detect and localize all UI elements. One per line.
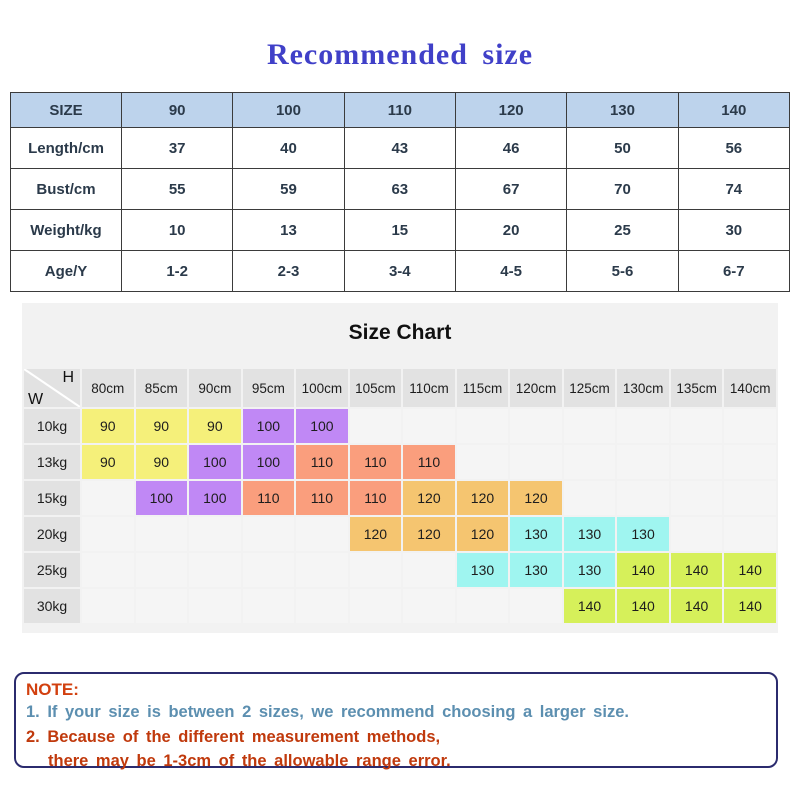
cell-bust-100: 59 (233, 169, 344, 210)
note-line-3-text: there may be 1-3cm of the allowable rang… (48, 752, 451, 770)
row-label-length: Length/cm (11, 128, 122, 169)
size-table-header-90: 90 (122, 93, 233, 128)
size-chart-row: 13kg9090100100110110110 (24, 445, 776, 479)
size-chart-title: Size Chart (22, 321, 778, 345)
empty-cell (457, 409, 509, 443)
cell-bust-120: 67 (455, 169, 566, 210)
row-header-13kg: 13kg (24, 445, 80, 479)
empty-cell (82, 553, 134, 587)
size-cell-10kg-100cm: 100 (296, 409, 348, 443)
size-cell-10kg-95cm: 100 (243, 409, 295, 443)
cell-weight-140: 30 (678, 210, 789, 251)
size-cell-20kg-115cm: 120 (457, 517, 509, 551)
cell-bust-130: 70 (567, 169, 678, 210)
empty-cell (136, 553, 188, 587)
empty-cell (403, 589, 455, 623)
cell-age-130: 5-6 (567, 251, 678, 292)
size-cell-13kg-105cm: 110 (350, 445, 402, 479)
cell-age-90: 1-2 (122, 251, 233, 292)
empty-cell (189, 589, 241, 623)
column-header-125cm: 125cm (564, 369, 616, 407)
table-row: Bust/cm 55 59 63 67 70 74 (11, 169, 790, 210)
size-cell-15kg-85cm: 100 (136, 481, 188, 515)
empty-cell (82, 589, 134, 623)
empty-cell (510, 445, 562, 479)
note-heading: NOTE: (26, 680, 766, 700)
cell-age-140: 6-7 (678, 251, 789, 292)
column-header-105cm: 105cm (350, 369, 402, 407)
size-cell-30kg-135cm: 140 (671, 589, 723, 623)
empty-cell (510, 589, 562, 623)
size-chart-grid: HW80cm85cm90cm95cm100cm105cm110cm115cm12… (22, 367, 778, 625)
size-table-header-row: SIZE 90 100 110 120 130 140 (11, 93, 790, 128)
size-cell-20kg-120cm: 130 (510, 517, 562, 551)
column-header-110cm: 110cm (403, 369, 455, 407)
cell-weight-110: 15 (344, 210, 455, 251)
size-table-header-130: 130 (567, 93, 678, 128)
size-cell-13kg-90cm: 100 (189, 445, 241, 479)
size-cell-10kg-80cm: 90 (82, 409, 134, 443)
table-row: Age/Y 1-2 2-3 3-4 4-5 5-6 6-7 (11, 251, 790, 292)
empty-cell (617, 481, 669, 515)
cell-length-120: 46 (455, 128, 566, 169)
size-cell-13kg-80cm: 90 (82, 445, 134, 479)
corner-height-label: H (62, 369, 74, 387)
size-table-header-140: 140 (678, 93, 789, 128)
empty-cell (457, 445, 509, 479)
size-cell-15kg-100cm: 110 (296, 481, 348, 515)
cell-weight-130: 25 (567, 210, 678, 251)
empty-cell (671, 409, 723, 443)
column-header-115cm: 115cm (457, 369, 509, 407)
column-header-80cm: 80cm (82, 369, 134, 407)
size-cell-15kg-105cm: 110 (350, 481, 402, 515)
size-cell-25kg-135cm: 140 (671, 553, 723, 587)
table-row: Length/cm 37 40 43 46 50 56 (11, 128, 790, 169)
cell-length-90: 37 (122, 128, 233, 169)
empty-cell (671, 481, 723, 515)
size-chart-row: 20kg120120120130130130 (24, 517, 776, 551)
recommended-size-table: SIZE 90 100 110 120 130 140 Length/cm 37… (10, 92, 790, 292)
cell-bust-90: 55 (122, 169, 233, 210)
empty-cell (82, 481, 134, 515)
size-table-header-100: 100 (233, 93, 344, 128)
column-header-90cm: 90cm (189, 369, 241, 407)
empty-cell (671, 445, 723, 479)
size-cell-20kg-125cm: 130 (564, 517, 616, 551)
size-cell-13kg-110cm: 110 (403, 445, 455, 479)
page-title: Recommended size (0, 38, 800, 72)
note-line-3: there may be 1-3cm of the allowable rang… (26, 749, 766, 773)
size-chart-panel: Size Chart HW80cm85cm90cm95cm100cm105cm1… (22, 303, 778, 633)
empty-cell (243, 517, 295, 551)
cell-length-130: 50 (567, 128, 678, 169)
size-cell-15kg-120cm: 120 (510, 481, 562, 515)
size-cell-15kg-95cm: 110 (243, 481, 295, 515)
size-cell-20kg-105cm: 120 (350, 517, 402, 551)
note-line-2: 2. Because of the different measurement … (26, 725, 766, 749)
size-cell-25kg-115cm: 130 (457, 553, 509, 587)
empty-cell (724, 517, 776, 551)
column-header-85cm: 85cm (136, 369, 188, 407)
empty-cell (510, 409, 562, 443)
row-header-15kg: 15kg (24, 481, 80, 515)
size-cell-13kg-100cm: 110 (296, 445, 348, 479)
empty-cell (136, 517, 188, 551)
cell-bust-110: 63 (344, 169, 455, 210)
size-cell-15kg-110cm: 120 (403, 481, 455, 515)
empty-cell (564, 445, 616, 479)
empty-cell (350, 553, 402, 587)
empty-cell (724, 445, 776, 479)
row-label-bust: Bust/cm (11, 169, 122, 210)
empty-cell (564, 409, 616, 443)
size-cell-13kg-85cm: 90 (136, 445, 188, 479)
empty-cell (296, 553, 348, 587)
empty-cell (136, 589, 188, 623)
size-table-header-size: SIZE (11, 93, 122, 128)
corner-inner: HW (24, 369, 80, 407)
row-header-25kg: 25kg (24, 553, 80, 587)
size-cell-15kg-90cm: 100 (189, 481, 241, 515)
empty-cell (189, 553, 241, 587)
size-table-header-110: 110 (344, 93, 455, 128)
empty-cell (296, 517, 348, 551)
empty-cell (350, 589, 402, 623)
size-cell-10kg-85cm: 90 (136, 409, 188, 443)
row-header-20kg: 20kg (24, 517, 80, 551)
column-header-135cm: 135cm (671, 369, 723, 407)
cell-weight-90: 10 (122, 210, 233, 251)
column-header-100cm: 100cm (296, 369, 348, 407)
size-cell-15kg-115cm: 120 (457, 481, 509, 515)
cell-age-120: 4-5 (455, 251, 566, 292)
column-header-95cm: 95cm (243, 369, 295, 407)
size-cell-25kg-125cm: 130 (564, 553, 616, 587)
size-cell-30kg-140cm: 140 (724, 589, 776, 623)
empty-cell (617, 409, 669, 443)
size-cell-30kg-130cm: 140 (617, 589, 669, 623)
size-table-body: SIZE 90 100 110 120 130 140 Length/cm 37… (11, 93, 790, 292)
size-chart-row: 15kg100100110110110120120120 (24, 481, 776, 515)
note-line-1: 1. If your size is between 2 sizes, we r… (26, 700, 766, 725)
empty-cell (403, 553, 455, 587)
row-header-30kg: 30kg (24, 589, 80, 623)
size-chart-header-row: HW80cm85cm90cm95cm100cm105cm110cm115cm12… (24, 369, 776, 407)
size-cell-30kg-125cm: 140 (564, 589, 616, 623)
empty-cell (296, 589, 348, 623)
cell-length-110: 43 (344, 128, 455, 169)
column-header-140cm: 140cm (724, 369, 776, 407)
empty-cell (724, 481, 776, 515)
size-chart-grid-body: HW80cm85cm90cm95cm100cm105cm110cm115cm12… (24, 369, 776, 623)
empty-cell (671, 517, 723, 551)
cell-length-100: 40 (233, 128, 344, 169)
empty-cell (82, 517, 134, 551)
note-box: NOTE: 1. If your size is between 2 sizes… (14, 672, 778, 768)
row-header-10kg: 10kg (24, 409, 80, 443)
row-label-age: Age/Y (11, 251, 122, 292)
empty-cell (564, 481, 616, 515)
row-label-weight: Weight/kg (11, 210, 122, 251)
table-row: Weight/kg 10 13 15 20 25 30 (11, 210, 790, 251)
size-cell-25kg-120cm: 130 (510, 553, 562, 587)
column-header-130cm: 130cm (617, 369, 669, 407)
empty-cell (243, 553, 295, 587)
cell-length-140: 56 (678, 128, 789, 169)
empty-cell (617, 445, 669, 479)
size-cell-20kg-110cm: 120 (403, 517, 455, 551)
cell-weight-100: 13 (233, 210, 344, 251)
size-chart-row: 10kg909090100100 (24, 409, 776, 443)
empty-cell (457, 589, 509, 623)
size-cell-25kg-130cm: 140 (617, 553, 669, 587)
empty-cell (243, 589, 295, 623)
size-cell-10kg-90cm: 90 (189, 409, 241, 443)
empty-cell (403, 409, 455, 443)
size-cell-20kg-130cm: 130 (617, 517, 669, 551)
cell-bust-140: 74 (678, 169, 789, 210)
weight-height-corner-cell: HW (24, 369, 80, 407)
size-cell-13kg-95cm: 100 (243, 445, 295, 479)
cell-age-100: 2-3 (233, 251, 344, 292)
empty-cell (189, 517, 241, 551)
size-table-header-120: 120 (455, 93, 566, 128)
cell-age-110: 3-4 (344, 251, 455, 292)
size-chart-row: 30kg140140140140 (24, 589, 776, 623)
size-cell-25kg-140cm: 140 (724, 553, 776, 587)
column-header-120cm: 120cm (510, 369, 562, 407)
empty-cell (350, 409, 402, 443)
corner-weight-label: W (28, 391, 43, 409)
size-chart-row: 25kg130130130140140140 (24, 553, 776, 587)
cell-weight-120: 20 (455, 210, 566, 251)
empty-cell (724, 409, 776, 443)
